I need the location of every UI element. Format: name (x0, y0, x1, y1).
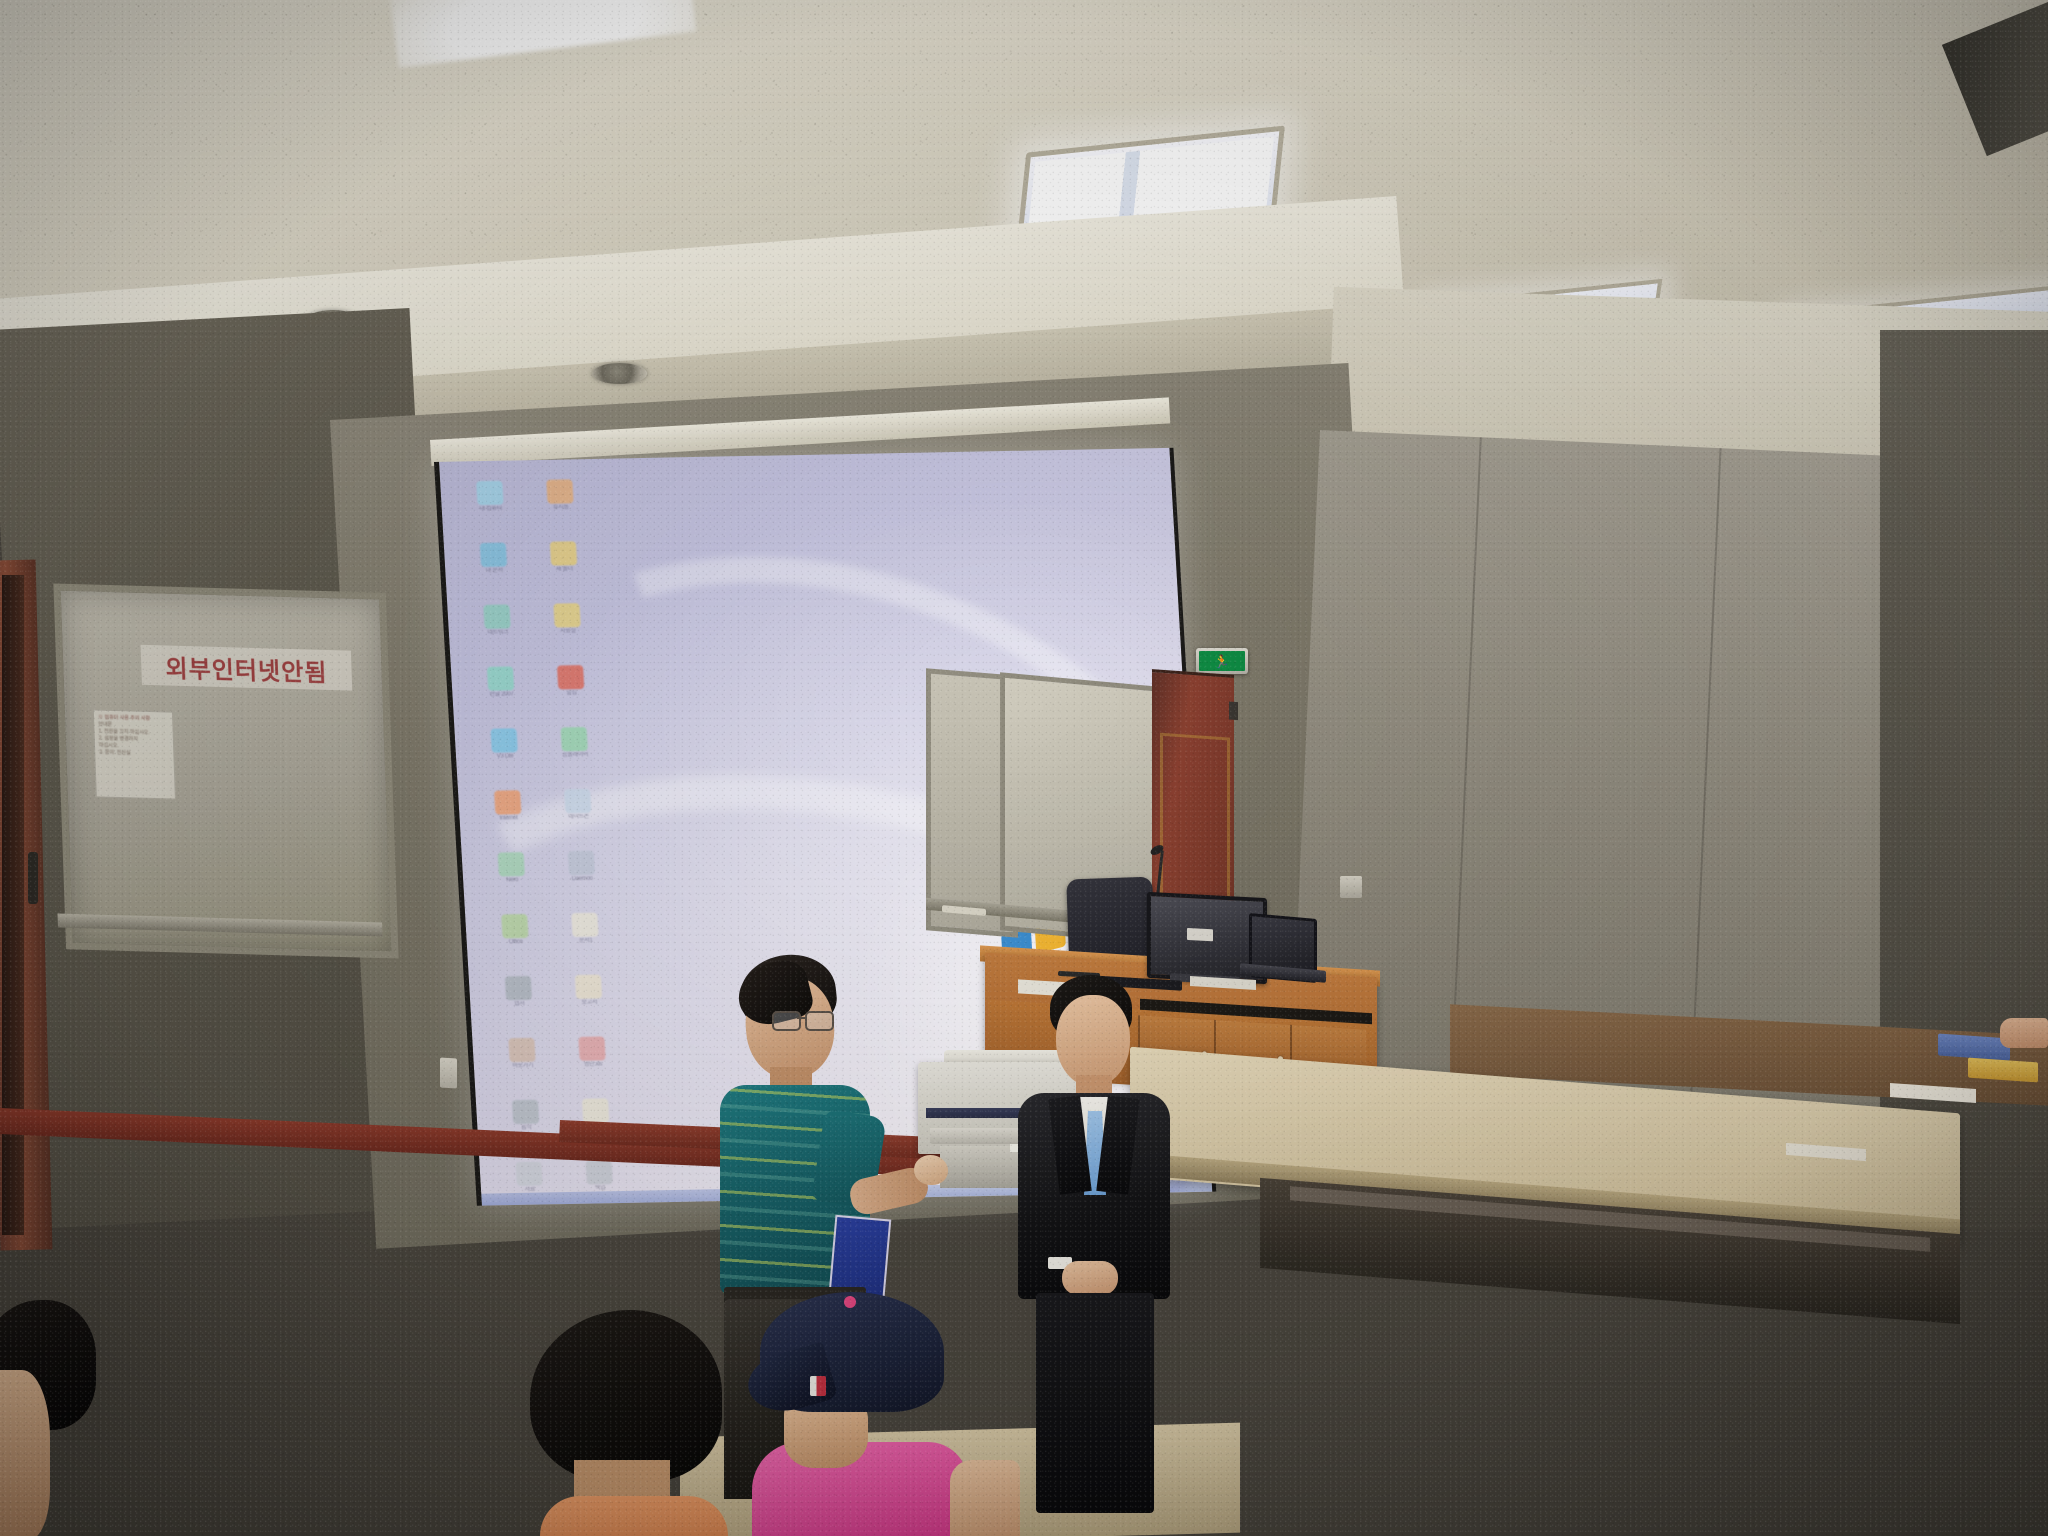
eyeglasses-icon (772, 1011, 834, 1028)
exit-sign-panel: 🏃 (1199, 651, 1245, 671)
desktop-icon-glyph (512, 1100, 539, 1124)
desktop-icon-glyph (508, 1038, 535, 1062)
desktop-icon-label: Daemon (547, 875, 617, 882)
desktop-icon-glyph (515, 1162, 542, 1186)
desktop-icon-label: 곰플레이어 (540, 751, 610, 758)
desktop-icon-glyph (494, 790, 521, 814)
desktop-icon-label: 문서1 (551, 937, 621, 944)
desktop-icon[interactable]: 곰플레이어 (538, 725, 612, 788)
desktop-icon-glyph (480, 543, 507, 567)
desktop-icon-glyph (476, 481, 503, 505)
desktop-icon-glyph (585, 1160, 612, 1184)
desktop-icon[interactable]: 네트워크 (461, 602, 535, 665)
desktop-icon-label: Internet (473, 815, 543, 822)
audience-member-cap (752, 1292, 972, 1536)
desktop-icon[interactable]: Nero (475, 850, 549, 913)
audience-member-arm (950, 1460, 1020, 1536)
door-opening-left[interactable] (2, 575, 24, 1235)
desktop-icon[interactable]: 알집 (535, 663, 609, 726)
no-external-internet-sign: 외부인터넷안됨 (141, 645, 353, 691)
whiteboard-left: 외부인터넷안됨 ※ 컴퓨터 사용 주의 사항 안내문 1. 전원을 끄지 마십시… (53, 583, 398, 958)
audience-member-center (530, 1310, 730, 1536)
posted-notice-sheet: ※ 컴퓨터 사용 주의 사항 안내문 1. 전원을 끄지 마십시오. 2. 설정… (93, 709, 176, 799)
desktop-icon-label: 네트워크 (463, 629, 533, 636)
desktop-icon[interactable]: V3 Lite (468, 726, 542, 789)
presenter-standing (1010, 975, 1210, 1536)
desktop-icon-label: Nero (477, 877, 547, 884)
audience-member-left (0, 1300, 100, 1536)
desktop-icon-glyph (571, 913, 598, 937)
desktop-icon[interactable]: 새 폴더 (528, 539, 602, 602)
desktop-icon[interactable]: 휴지통 (524, 477, 598, 540)
door-hinge (1229, 702, 1238, 721)
desktop-icon[interactable]: Office (479, 912, 553, 975)
desktop-icon-glyph (564, 789, 591, 813)
desktop-icon[interactable]: Daemon (545, 848, 619, 911)
desktop-icon-label: 휴지통 (526, 504, 596, 511)
light-switch-plate-right[interactable] (1340, 876, 1362, 898)
emergency-exit-sign: 🏃 (1196, 648, 1248, 674)
desktop-icon-label: 자료실 (533, 628, 603, 635)
desktop-icon-glyph (487, 666, 514, 690)
desktop-icon[interactable]: 캡처 (483, 973, 557, 1036)
light-switch-plate-left[interactable] (440, 1058, 457, 1089)
desktop-icon-label: 내 문서 (459, 567, 529, 574)
desktop-icon-glyph (505, 976, 532, 1000)
presenter-1-hand (914, 1155, 948, 1185)
presenter-2-trousers (1036, 1293, 1154, 1513)
audience-hand (2000, 1018, 2048, 1048)
desktop-icon-glyph (483, 604, 510, 628)
desktop-icon[interactable]: 문서1 (549, 910, 623, 973)
presenter-2-head (1056, 995, 1130, 1087)
desktop-icon-glyph (553, 603, 580, 627)
desktop-icon-glyph (546, 479, 573, 503)
presenter-2-clasped-hands (1062, 1261, 1118, 1295)
desktop-icon-label: 새 폴더 (529, 566, 599, 573)
downlight-2 (592, 363, 647, 384)
desktop-icon-label: 보고서 (554, 999, 624, 1006)
desktop-icon[interactable]: Internet (472, 788, 546, 851)
desktop-icon-glyph (568, 851, 595, 875)
desktop-icon[interactable]: 보고서 (553, 972, 627, 1035)
desktop-icon-glyph (498, 852, 525, 876)
desktop-icon-glyph (557, 665, 584, 689)
desktop-icon[interactable]: 명단.xls (556, 1034, 630, 1097)
desktop-icon[interactable]: 내 컴퓨터 (454, 478, 528, 541)
desktop-icon-label: 명단.xls (558, 1061, 628, 1068)
desktop-icon-glyph (582, 1098, 609, 1122)
desktop-icon-label: 알집 (536, 690, 606, 697)
cap-button-icon (844, 1296, 856, 1308)
desktop-icon[interactable]: 자료실 (531, 601, 605, 664)
cap-logo-icon (810, 1376, 826, 1396)
notice-line-5: 3. 문의: 전산실 (99, 749, 169, 758)
desktop-icon[interactable]: 네이트온 (542, 786, 616, 849)
desktop-icon-glyph (578, 1036, 605, 1060)
desktop-icon[interactable]: 내 문서 (458, 540, 532, 603)
lecture-room-photo: 내 컴퓨터휴지통내 문서새 폴더네트워크자료실한글 2007알집V3 Lite곰… (0, 0, 2048, 1536)
door-handle-left[interactable] (28, 852, 38, 904)
running-person-icon: 🏃 (1214, 655, 1230, 668)
audience-2-hair (530, 1310, 722, 1482)
audience-2-orange-shirt (540, 1496, 728, 1536)
desktop-icon-label: 네이트온 (543, 813, 613, 820)
desktop-icon-glyph (560, 727, 587, 751)
audience-1-face (0, 1370, 50, 1536)
desktop-icon-label: 캡처 (484, 1000, 554, 1007)
desktop-icon-glyph (501, 914, 528, 938)
desktop-icon[interactable]: 한글 2007 (465, 664, 539, 727)
desktop-icon-glyph (575, 975, 602, 999)
no-external-internet-text: 외부인터넷안됨 (165, 648, 328, 687)
desktop-icon-label: 내 컴퓨터 (456, 505, 526, 512)
desktop-icon-label: 바로가기 (488, 1062, 558, 1069)
desktop-icon-label: Office (481, 938, 551, 945)
desktop-icon-label: V3 Lite (470, 753, 540, 760)
desktop-icon-label: 한글 2007 (466, 691, 536, 698)
desktop-icon-glyph (490, 728, 517, 752)
desktop-icon-glyph (550, 541, 577, 565)
desktop-icon[interactable]: 바로가기 (486, 1035, 560, 1098)
